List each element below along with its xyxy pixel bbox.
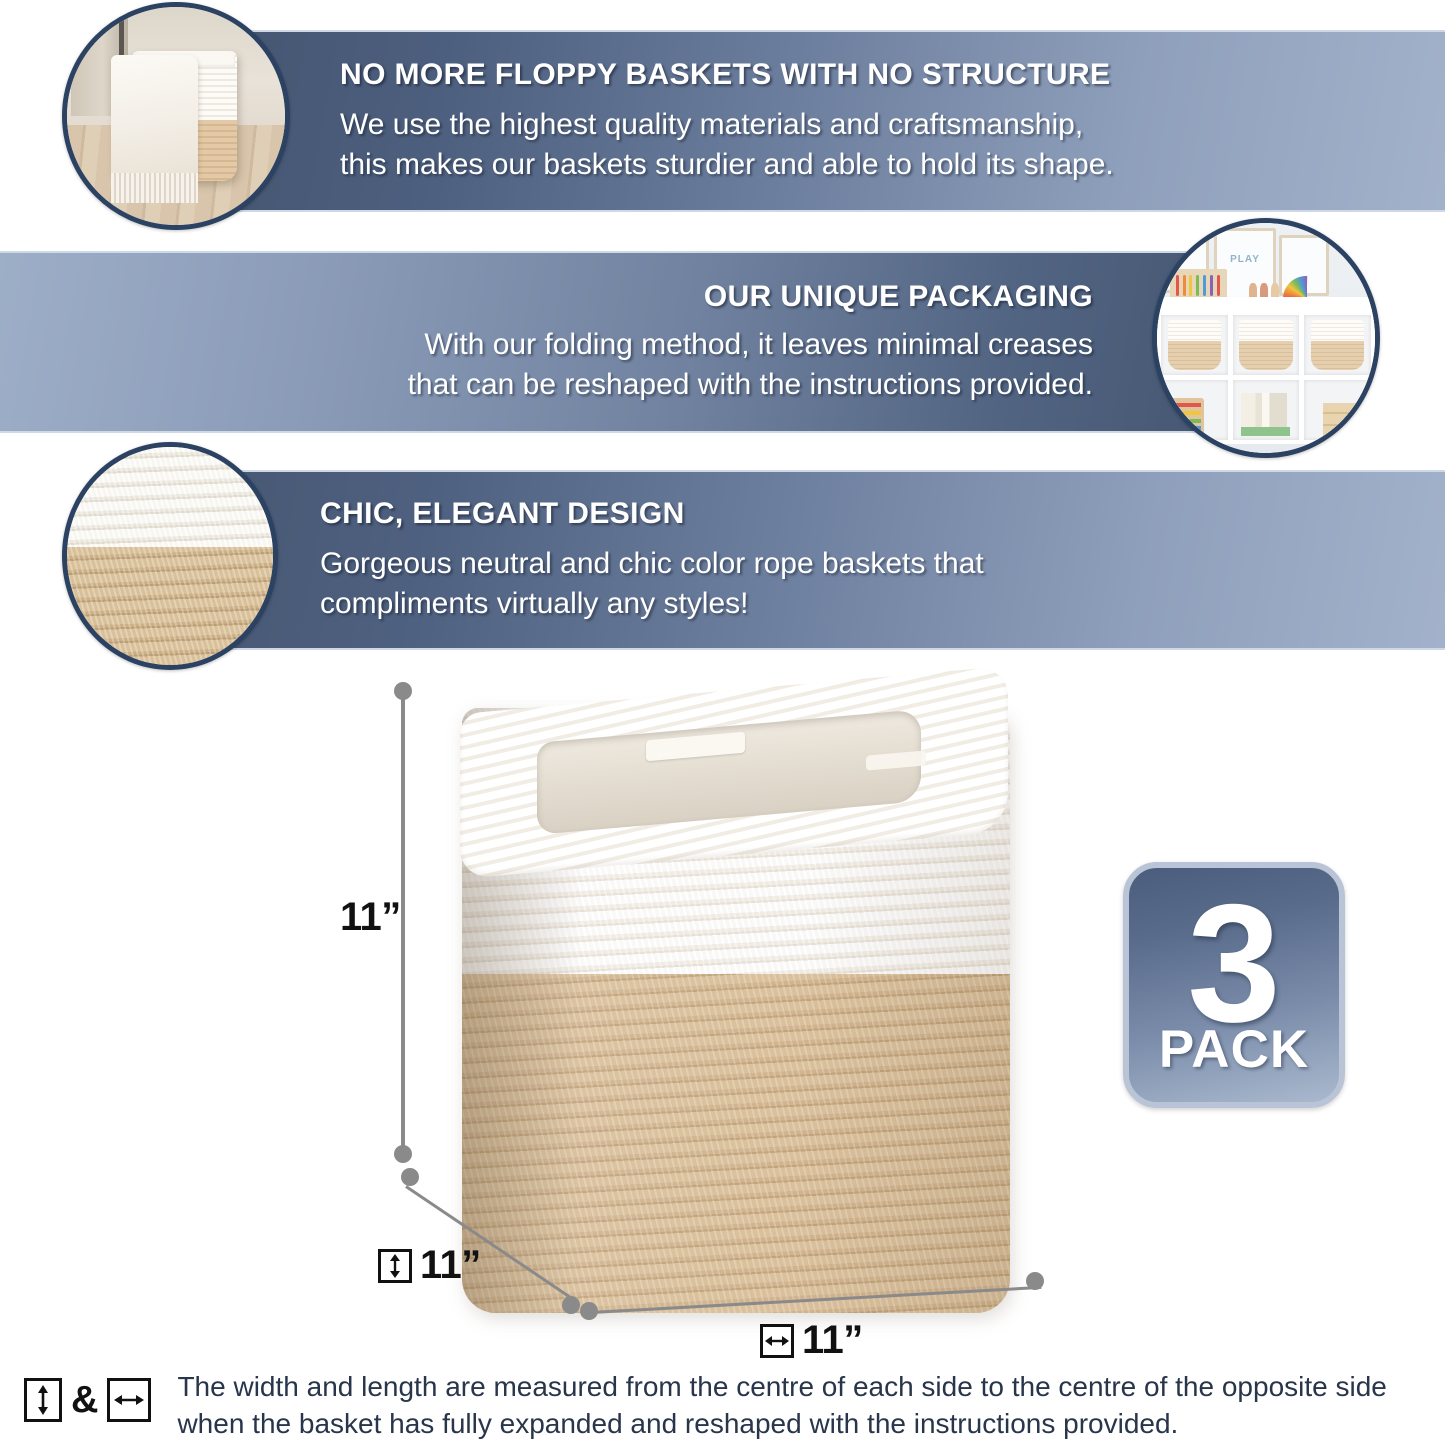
- basket-rim: [460, 690, 1008, 855]
- disclaimer-line-1: The width and length are measured from t…: [177, 1368, 1386, 1405]
- ampersand-label: &: [71, 1381, 98, 1419]
- banner-title-design: CHIC, ELEGANT DESIGN: [320, 497, 1405, 530]
- product-image-basket: [455, 678, 1015, 1313]
- dim-label-depth: 11”: [378, 1243, 481, 1288]
- peg-toy: [1170, 269, 1227, 299]
- banner-title-structure: NO MORE FLOPPY BASKETS WITH NO STRUCTURE: [340, 58, 1405, 91]
- banner-title-packaging: OUR UNIQUE PACKAGING: [704, 280, 1093, 313]
- pack-count-badge: 3 PACK: [1123, 862, 1345, 1108]
- height-arrow-icon: [378, 1249, 412, 1283]
- photo-3-content: [67, 447, 273, 665]
- dim-value-depth: 11”: [420, 1243, 481, 1288]
- photo-rope-texture: [62, 442, 278, 670]
- photo-basket-with-throw: [62, 2, 290, 230]
- photo-2-content: PLAY: [1157, 223, 1375, 453]
- banner-line-2: that can be reshaped with the instructio…: [408, 365, 1093, 405]
- feature-banner-design: CHIC, ELEGANT DESIGN Gorgeous neutral an…: [185, 470, 1445, 650]
- dim-dot-depth-top: [401, 1168, 419, 1186]
- dim-dot-height-bottom: [394, 1145, 412, 1163]
- pack-count-label: PACK: [1159, 1023, 1309, 1076]
- photo-1-content: [67, 7, 285, 225]
- pack-count-number: 3: [1187, 898, 1280, 1029]
- banner-line-1: Gorgeous neutral and chic color rope bas…: [320, 544, 1405, 584]
- dim-value-height: 11”: [340, 895, 401, 940]
- feature-banner-structure: NO MORE FLOPPY BASKETS WITH NO STRUCTURE…: [195, 30, 1445, 212]
- dim-dot-width-left: [580, 1302, 598, 1320]
- photo-playroom-shelf: PLAY: [1152, 218, 1380, 458]
- dim-dot-depth-bottom: [562, 1296, 580, 1314]
- width-arrow-icon: [760, 1324, 794, 1358]
- banner-line-1: With our folding method, it leaves minim…: [408, 325, 1093, 365]
- banner-line-1: We use the highest quality materials and…: [340, 105, 1405, 145]
- banner-line-2: this makes our baskets sturdier and able…: [340, 145, 1405, 185]
- width-arrow-icon: [107, 1378, 151, 1422]
- dim-value-width: 11”: [802, 1318, 863, 1363]
- banner-line-2: compliments virtually any styles!: [320, 584, 1405, 624]
- dim-label-width: 11”: [760, 1318, 863, 1363]
- dim-label-height: 11”: [340, 895, 401, 940]
- dim-dot-width-right: [1026, 1272, 1044, 1290]
- feature-banner-packaging: OUR UNIQUE PACKAGING With our folding me…: [0, 251, 1253, 433]
- dim-line-height: [401, 691, 405, 1154]
- dim-dot-height-top: [394, 682, 412, 700]
- wall-art-label: PLAY: [1217, 254, 1274, 265]
- disclaimer-line-2: when the basket has fully expanded and r…: [177, 1405, 1386, 1442]
- height-arrow-icon: [24, 1378, 62, 1422]
- measurement-icons: &: [24, 1378, 151, 1422]
